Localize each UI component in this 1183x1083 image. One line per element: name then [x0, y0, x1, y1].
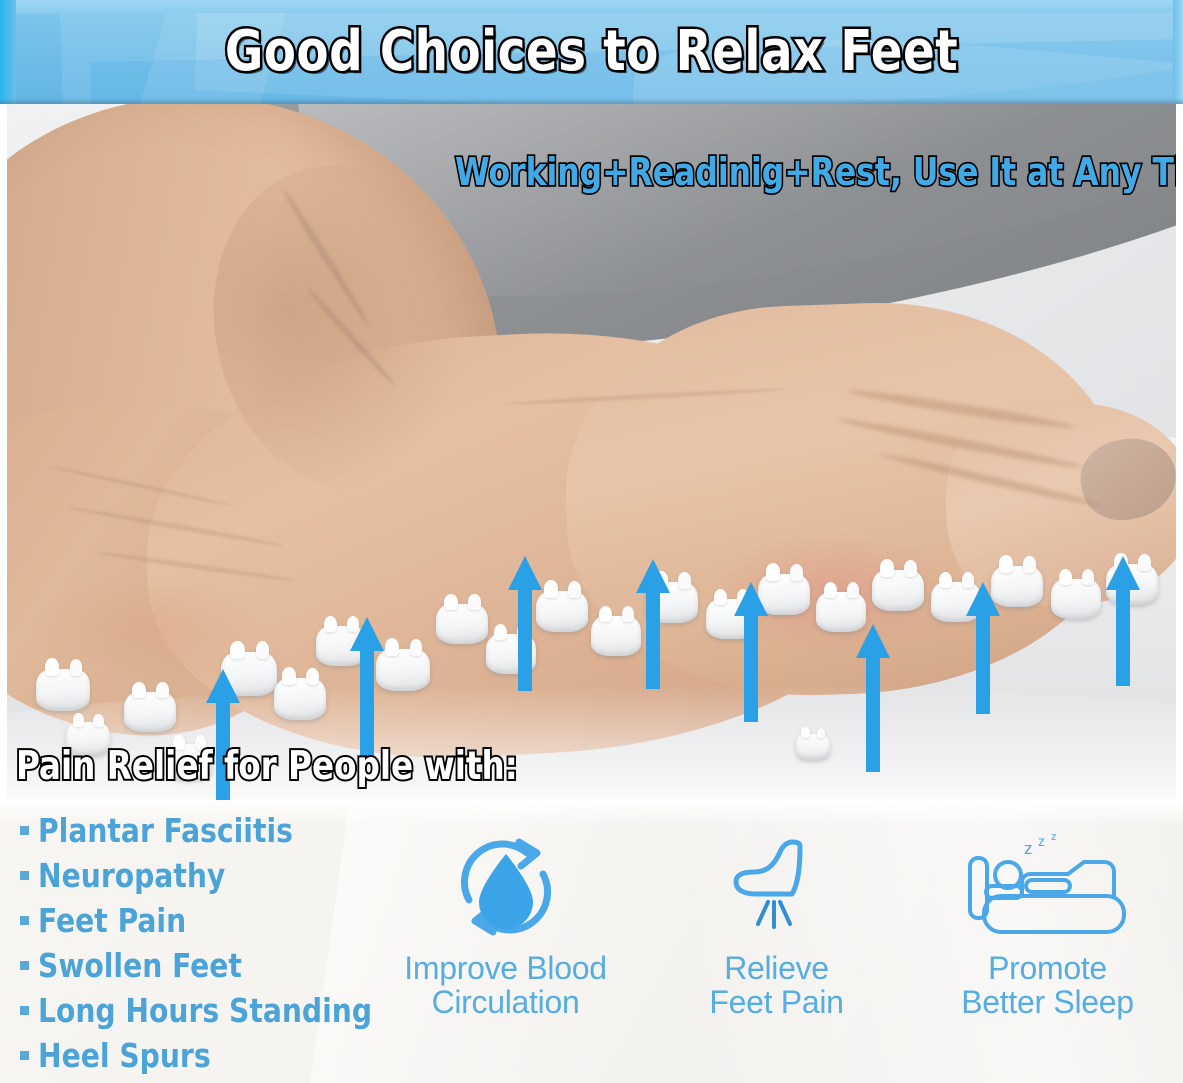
benefits-row: Improve Blood Circulation Relieve Feet P… — [370, 828, 1183, 1019]
pain-relief-heading: Pain Relief for People with: — [16, 744, 518, 789]
massage-nub — [1051, 579, 1101, 619]
bullet-square-icon — [20, 826, 29, 835]
benefits-panel: Plantar Fasciitis Neuropathy Feet Pain S… — [0, 800, 1183, 1083]
benefit-label-line1: Relieve — [724, 950, 829, 986]
list-item: Heel Spurs — [20, 1036, 370, 1079]
massage-nub — [274, 678, 326, 720]
foot-pain-icon — [647, 828, 907, 948]
benefit-label-line1: Promote — [988, 950, 1107, 986]
massage-nub — [124, 692, 176, 732]
blood-circulation-icon — [376, 828, 636, 948]
benefit-label-line2: Circulation — [376, 986, 636, 1020]
massage-nub — [36, 669, 90, 711]
list-item-label: Neuropathy — [38, 856, 225, 895]
benefit-label-line1: Improve Blood — [404, 950, 606, 986]
massage-nub — [872, 570, 924, 611]
product-photo — [0, 104, 1183, 804]
photo-frame-right — [1176, 104, 1183, 804]
benefit-relieve-feet-pain: Relieve Feet Pain — [647, 828, 907, 1019]
pressure-arrow — [508, 556, 542, 691]
pressure-arrow — [350, 617, 384, 762]
list-item: Swollen Feet — [20, 946, 370, 989]
benefit-label-line2: Better Sleep — [918, 986, 1178, 1020]
massage-nub — [591, 616, 641, 656]
bullet-square-icon — [20, 1006, 29, 1015]
benefit-improve-blood-circulation: Improve Blood Circulation — [376, 828, 636, 1019]
benefit-label: Improve Blood Circulation — [376, 952, 636, 1019]
list-item-label: Heel Spurs — [38, 1036, 211, 1075]
benefit-promote-better-sleep: z z z Promote Better Sleep — [918, 828, 1178, 1019]
sleeping-person-bed-icon: z z z — [918, 828, 1178, 948]
banner-left-edge — [0, 0, 16, 104]
list-item: Plantar Fasciitis — [20, 811, 370, 854]
list-item-label: Swollen Feet — [38, 946, 242, 985]
bullet-square-icon — [20, 961, 29, 970]
list-item: Neuropathy — [20, 856, 370, 899]
list-item-label: Long Hours Standing — [38, 991, 372, 1030]
benefit-label: Promote Better Sleep — [918, 952, 1178, 1019]
massage-nub — [796, 734, 830, 760]
massage-nub — [536, 591, 588, 632]
massage-nub — [436, 604, 488, 644]
list-item-label: Feet Pain — [38, 901, 186, 940]
pressure-arrow — [636, 559, 670, 689]
bullet-square-icon — [20, 871, 29, 880]
banner-right-edge — [1173, 0, 1183, 104]
photo-inner — [6, 104, 1177, 804]
page-title: Good Choices to Relax Feet — [41, 19, 1141, 84]
svg-text:z: z — [1038, 833, 1045, 849]
list-item: Feet Pain — [20, 901, 370, 944]
banner-top-strip — [16, 0, 1173, 13]
photo-frame-left — [0, 104, 7, 804]
benefit-label: Relieve Feet Pain — [647, 952, 907, 1019]
pressure-arrow — [734, 582, 768, 722]
list-item-label: Plantar Fasciitis — [38, 811, 293, 850]
photo-subtitle: Working+Readinig+Rest, Use It at Any Tim… — [455, 150, 1183, 194]
pressure-arrow — [1106, 556, 1140, 686]
svg-text:z: z — [1024, 839, 1033, 858]
conditions-list: Plantar Fasciitis Neuropathy Feet Pain S… — [20, 811, 370, 1081]
bullet-square-icon — [20, 1051, 29, 1060]
pressure-arrow — [966, 582, 1000, 714]
product-infographic-poster: Good Choices to Relax Feet — [0, 0, 1183, 1083]
benefit-label-line2: Feet Pain — [647, 986, 907, 1020]
svg-text:z: z — [1051, 831, 1057, 843]
pressure-arrow — [856, 624, 890, 772]
bullet-square-icon — [20, 916, 29, 925]
massage-nub — [376, 649, 430, 691]
list-item: Long Hours Standing — [20, 991, 370, 1034]
